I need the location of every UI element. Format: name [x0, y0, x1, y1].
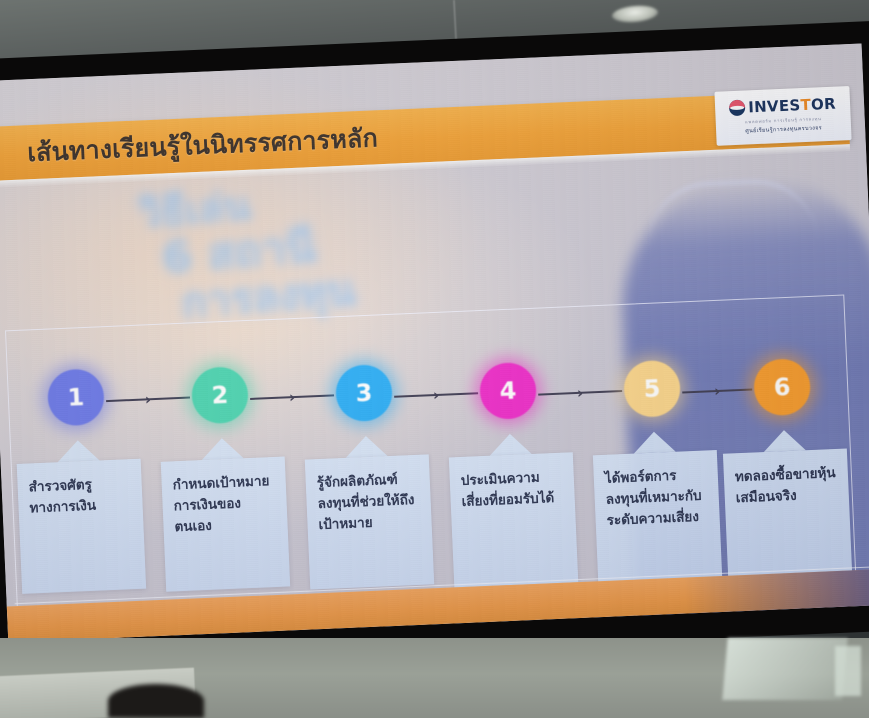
step-5-card-pointer: [633, 431, 676, 454]
photo-of-presentation-screen: วิธีเล่น 6 สถานี การลงทุน เส้นทางเรียนรู…: [0, 0, 869, 718]
logo-text-accent: T: [800, 95, 811, 113]
connector-3-to-4: ›: [394, 386, 479, 404]
step-4: 4ประเมินความเสี่ยงที่ยอมรับได้: [445, 360, 569, 365]
step-1: 1สำรวจศัตรูทางการเงิน: [13, 367, 137, 372]
logo-text-after: OR: [811, 94, 837, 113]
step-3-card-text: รู้จักผลิตภัณฑ์ลงทุนที่ช่วยให้ถึงเป้าหมา…: [316, 469, 421, 536]
chevron-right-icon: ›: [145, 392, 152, 406]
step-6: 6ทดลองซื้อขายหุ้นเสมือนจริง: [719, 357, 843, 362]
connector-2-to-3: ›: [250, 388, 335, 406]
step-3-card: รู้จักผลิตภัณฑ์ลงทุนที่ช่วยให้ถึงเป้าหมา…: [305, 454, 434, 589]
investor-circle-mark-icon: [729, 100, 746, 117]
chevron-right-icon: ›: [577, 386, 584, 400]
step-4-card-pointer: [489, 433, 532, 456]
step-1-card-text: สำรวจศัตรูทางการเงิน: [28, 473, 132, 519]
step-3-card-pointer: [345, 435, 388, 458]
chevron-right-icon: ›: [714, 384, 721, 398]
step-4-card: ประเมินความเสี่ยงที่ยอมรับได้: [449, 452, 578, 587]
step-list: 1สำรวจศัตรูทางการเงิน›2กำหนดเป้าหมายการเ…: [6, 326, 856, 612]
logo-subtitle-2: ศูนย์เรียนรู้การลงทุนครบวงจร: [745, 124, 822, 135]
wall-reflection-secondary: [835, 646, 861, 696]
connector-1-to-2: ›: [106, 391, 191, 409]
audience-head-silhouette: [108, 684, 204, 718]
step-4-card-text: ประเมินความเสี่ยงที่ยอมรับได้: [460, 467, 564, 513]
step-5-card: ได้พอร์ตการลงทุนที่เหมาะกับระดับความเสี่…: [593, 450, 722, 585]
step-6-card: ทดลองซื้อขายหุ้นเสมือนจริง: [723, 448, 852, 583]
connector-5-to-6: ›: [682, 382, 753, 399]
step-1-card-pointer: [57, 439, 100, 462]
logo-text-before: INVES: [748, 96, 801, 116]
wall-below-screen: [0, 638, 869, 718]
display-panel: วิธีเล่น 6 สถานี การลงทุน เส้นทางเรียนรู…: [0, 21, 869, 669]
step-3: 3รู้จักผลิตภัณฑ์ลงทุนที่ช่วยให้ถึงเป้าหม…: [301, 362, 425, 367]
step-2-card-text: กำหนดเป้าหมายการเงินของตนเอง: [172, 471, 277, 538]
step-2-card-pointer: [201, 437, 244, 460]
step-6-card-text: ทดลองซื้อขายหุ้นเสมือนจริง: [735, 463, 839, 509]
ceiling-light-icon: [611, 4, 658, 24]
step-2: 2กำหนดเป้าหมายการเงินของตนเอง: [157, 365, 281, 370]
wall-reflection: [722, 638, 847, 700]
step-1-card: สำรวจศัตรูทางการเงิน: [17, 459, 146, 594]
logo-row: INVESTOR: [729, 96, 836, 117]
logo-wordmark: INVESTOR: [748, 96, 836, 115]
projected-slide: วิธีเล่น 6 สถานี การลงทุน เส้นทางเรียนรู…: [0, 43, 869, 642]
chevron-right-icon: ›: [433, 388, 440, 402]
slide-bottom-strip-shadow: [684, 569, 869, 614]
step-5: 5ได้พอร์ตการลงทุนที่เหมาะกับระดับความเสี…: [589, 358, 713, 363]
chevron-right-icon: ›: [289, 390, 296, 404]
connector-4-to-5: ›: [538, 384, 623, 402]
step-5-card-text: ได้พอร์ตการลงทุนที่เหมาะกับระดับความเสี่…: [604, 465, 709, 532]
investor-logo: INVESTOR แพลตฟอร์ม การเรียนรู้ การลงทุน …: [714, 86, 851, 146]
step-6-card-pointer: [763, 429, 806, 452]
step-2-card: กำหนดเป้าหมายการเงินของตนเอง: [161, 457, 290, 592]
